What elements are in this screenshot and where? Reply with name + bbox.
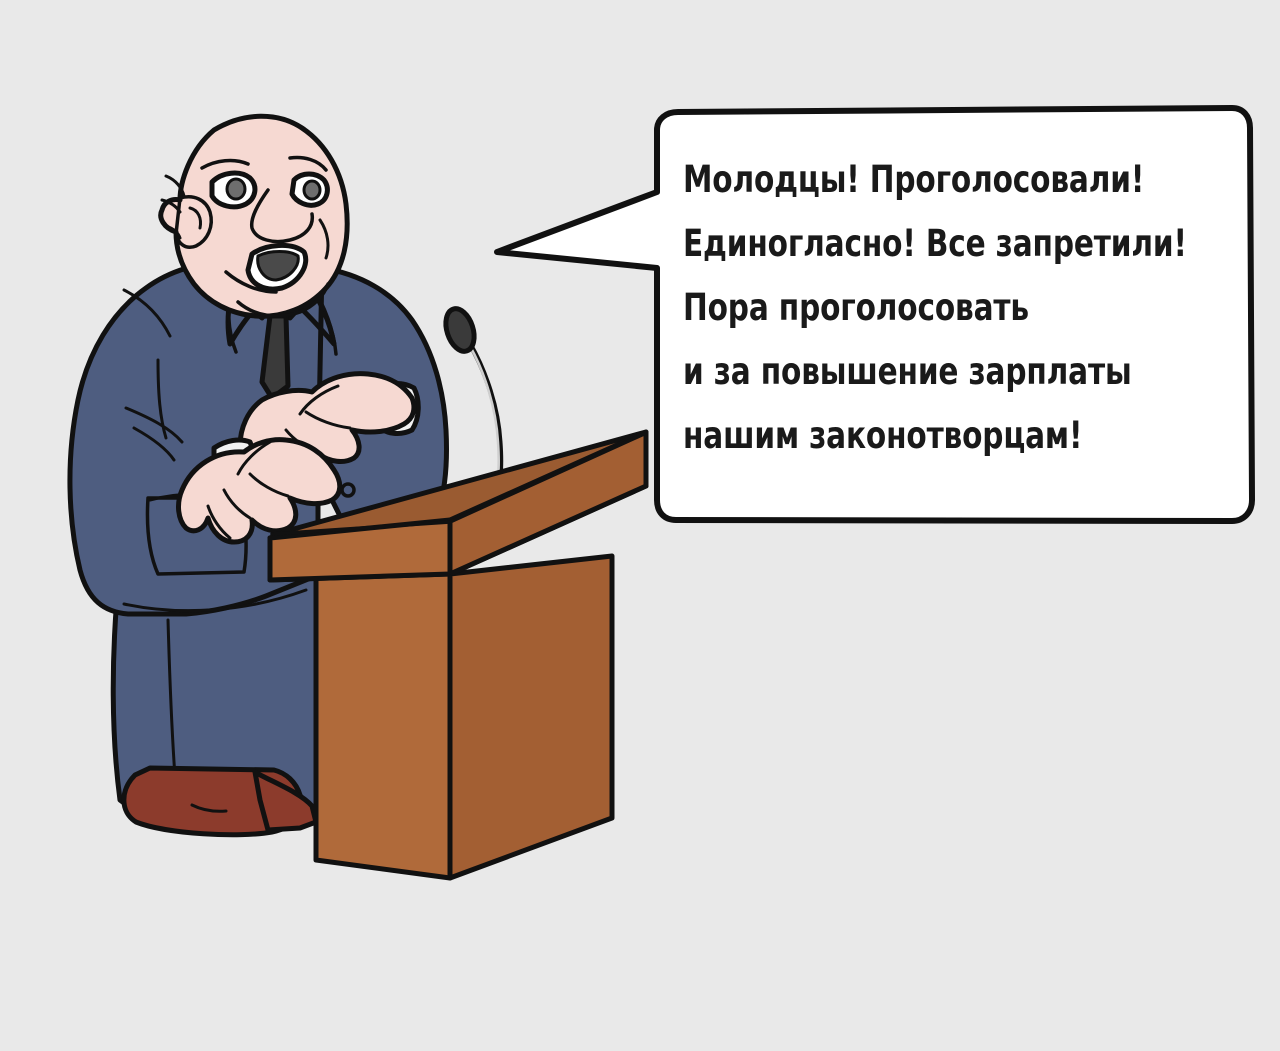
cartoon-canvas: .ln { fill:none; stroke:#111111; stroke-… [0,0,1280,1051]
podium-front [316,568,450,878]
eye-right-pupil [304,181,320,199]
eye-left-pupil [227,179,245,199]
cartoon-illustration: .ln { fill:none; stroke:#111111; stroke-… [0,0,1280,1051]
